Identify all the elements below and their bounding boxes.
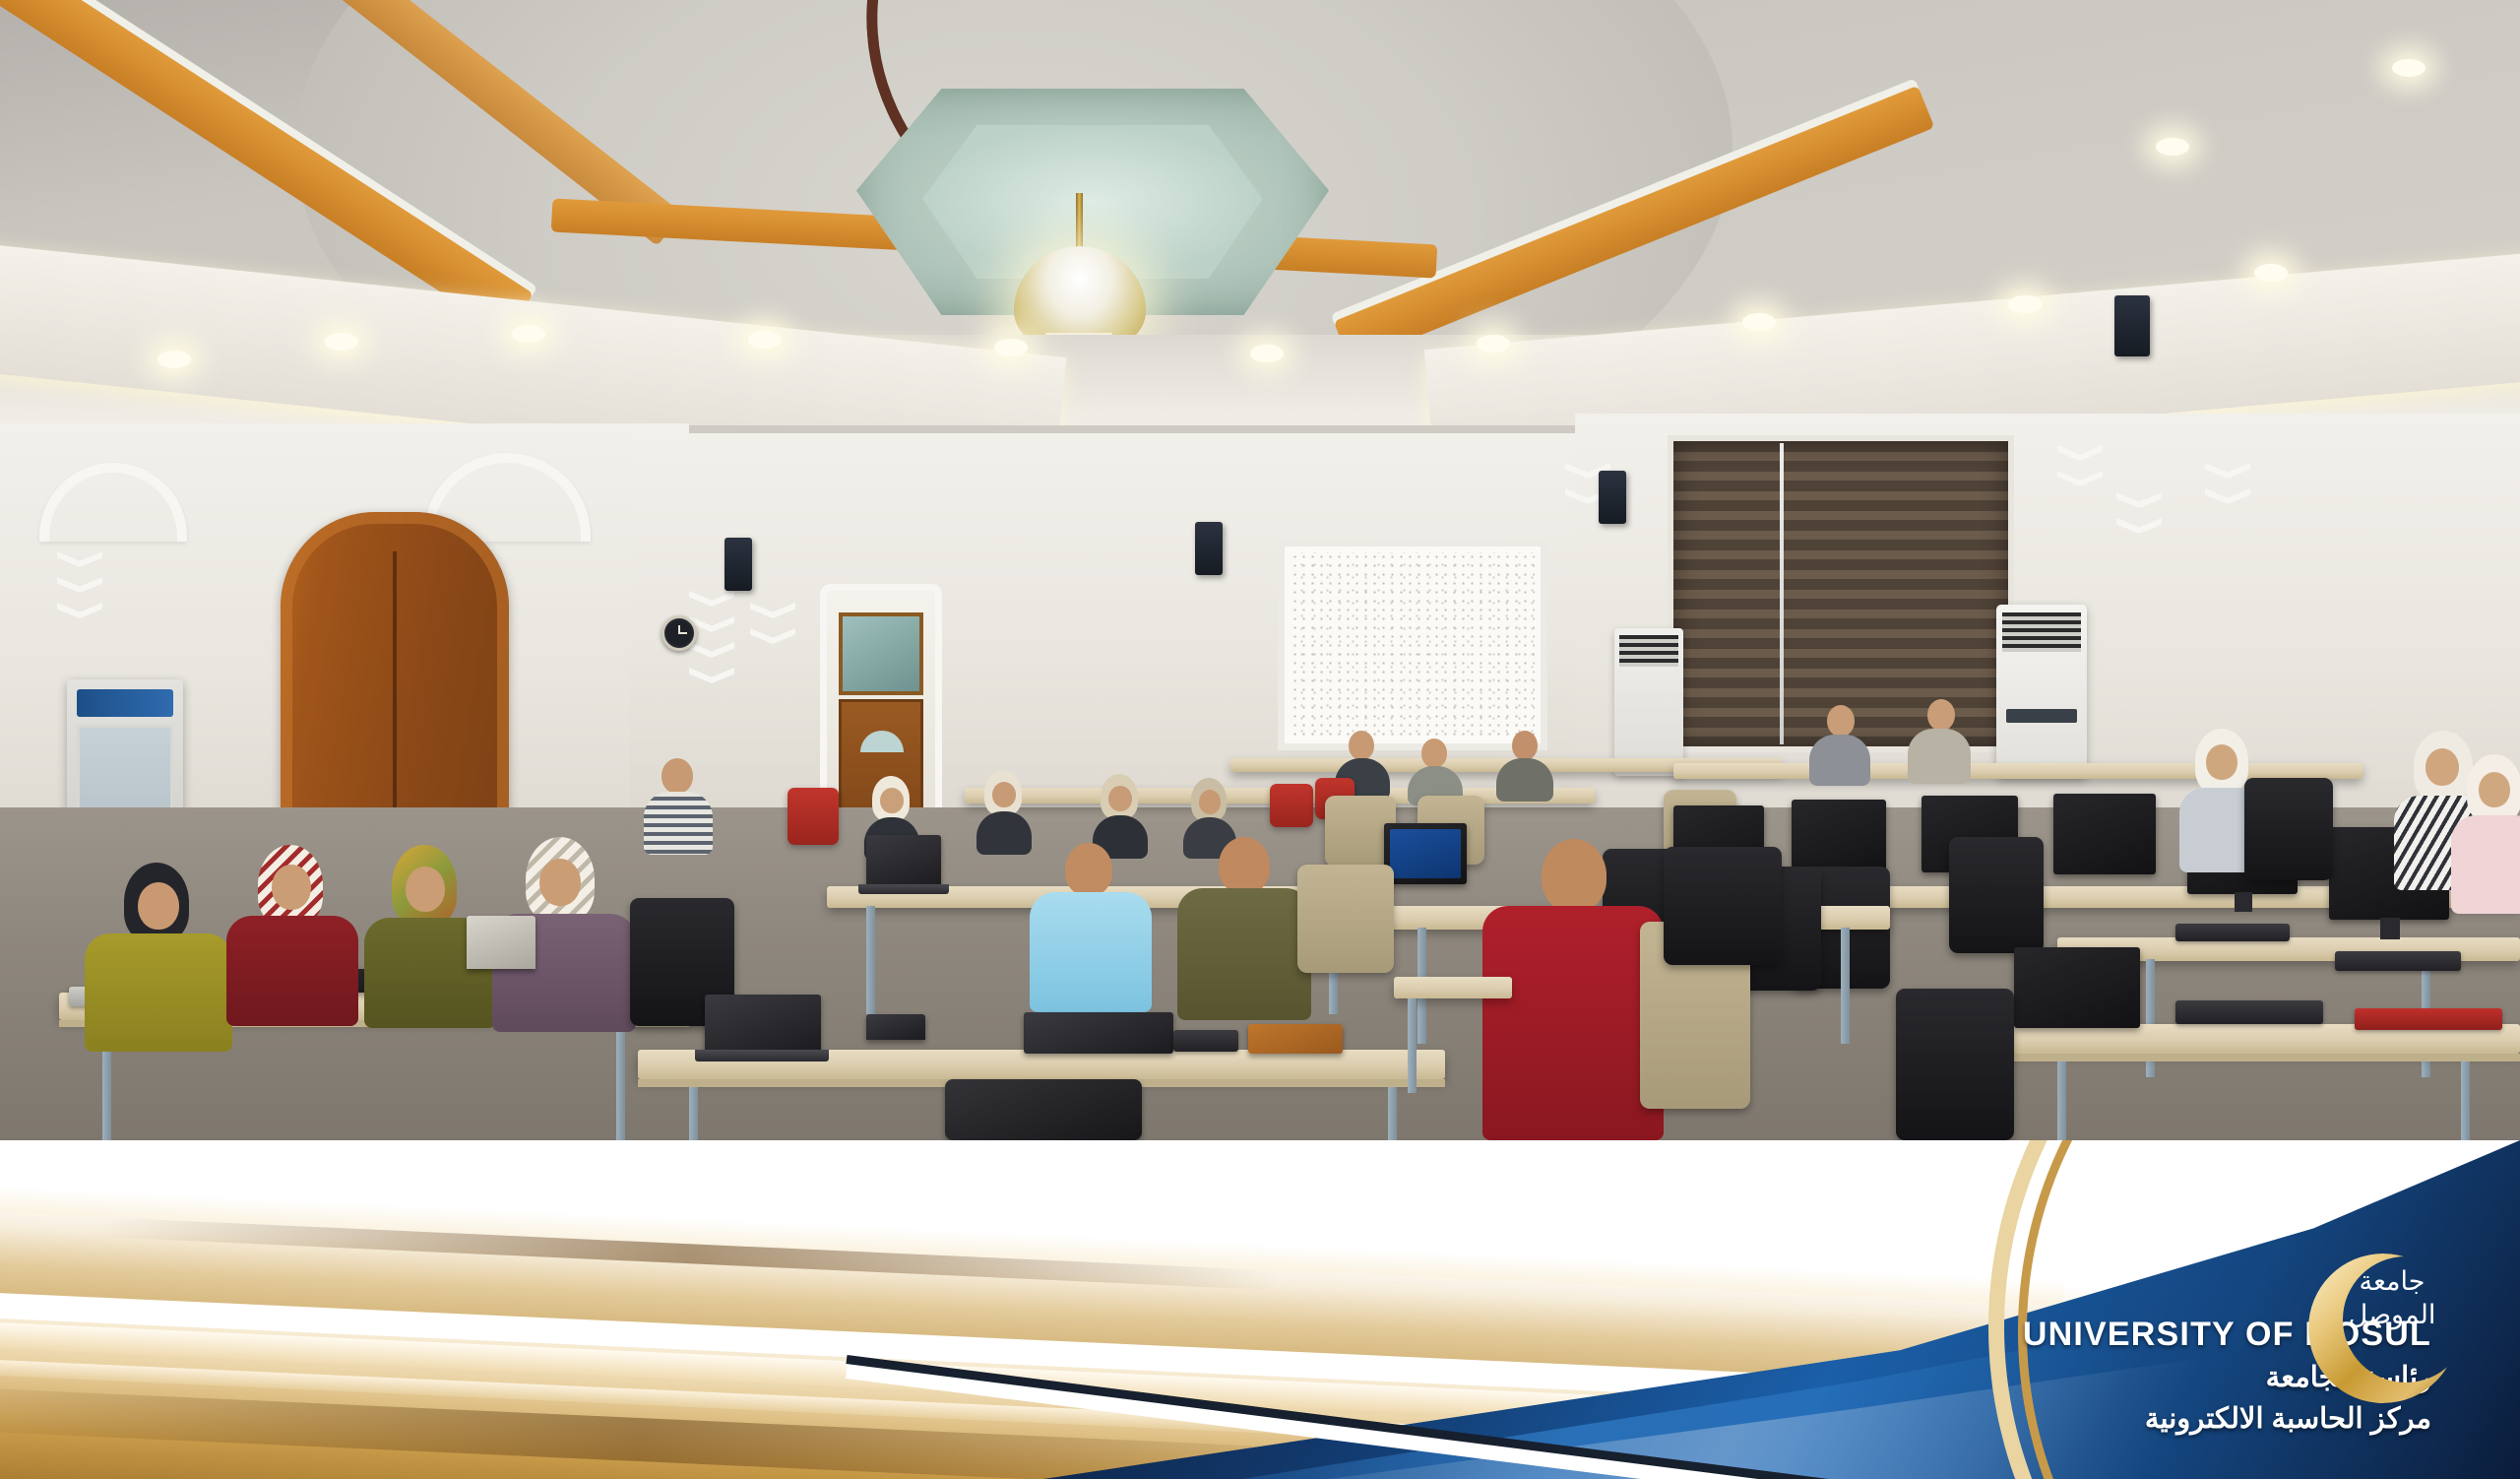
office-chair[interactable] — [2244, 778, 2333, 880]
desk — [1394, 977, 1512, 998]
desk-leg — [1841, 928, 1850, 1044]
laptop-closed[interactable] — [1024, 1012, 1173, 1054]
monitor — [2014, 947, 2140, 1028]
air-conditioner-grill — [1619, 635, 1678, 667]
handbag — [467, 916, 535, 969]
downlight — [157, 351, 191, 368]
notebook — [1248, 1024, 1343, 1054]
downlight — [1477, 335, 1510, 353]
acoustic-wall-panel — [1285, 547, 1541, 743]
wall-speaker — [724, 538, 752, 591]
desk — [1673, 763, 2362, 779]
downlight — [994, 339, 1028, 356]
training-hall-photo — [0, 0, 2520, 1140]
downlight — [1742, 313, 1776, 331]
office-chair[interactable] — [1949, 837, 2044, 953]
downlight — [2392, 59, 2425, 77]
wall-speaker — [1195, 522, 1223, 575]
laptop[interactable] — [705, 995, 821, 1052]
wall-speaker — [1599, 471, 1626, 524]
logo-arabic-bottom: الموصل — [2349, 1300, 2436, 1330]
laptop-base[interactable] — [858, 884, 949, 894]
monitor-stand — [2380, 918, 2400, 939]
keyboard[interactable] — [2335, 951, 2461, 971]
air-conditioner-grill — [2002, 612, 2081, 652]
downlight — [512, 325, 545, 343]
university-of-mosul-crescent-logo: جامعة الموصل — [2290, 1233, 2477, 1420]
desk-leg — [1408, 998, 1417, 1093]
downlight — [2008, 295, 2042, 313]
mobile-phone[interactable] — [1173, 1030, 1238, 1052]
window-blinds[interactable] — [1673, 441, 2008, 746]
stacking-chair[interactable] — [787, 788, 839, 845]
door-center-seam — [393, 551, 397, 832]
door-glass-pane — [839, 612, 923, 695]
downlight — [2254, 264, 2288, 282]
refrigerator-header — [77, 689, 173, 717]
keyboard[interactable] — [2175, 1000, 2323, 1024]
monitor-screen — [1390, 829, 1461, 878]
office-chair[interactable] — [1297, 865, 1394, 973]
desk-leg — [2461, 1061, 2470, 1140]
monitor — [1792, 800, 1886, 874]
university-footer-banner: UNIVERSITY OF MOSUL رئاسة الجامعة مركز ا… — [0, 1140, 2520, 1479]
blinds-cord[interactable] — [1780, 443, 1784, 744]
desk-leg — [866, 906, 875, 1014]
downlight — [748, 331, 782, 349]
wall-speaker — [2114, 295, 2150, 356]
laptop-base[interactable] — [695, 1050, 829, 1061]
desk-leg — [616, 1027, 625, 1140]
desk-leg — [2057, 1061, 2066, 1140]
office-chair[interactable] — [1896, 989, 2014, 1140]
laptop[interactable] — [866, 835, 941, 886]
wall-clock — [661, 615, 697, 651]
desk-leg — [1388, 1087, 1397, 1140]
downlight — [1250, 345, 1284, 362]
office-chair[interactable] — [1664, 847, 1782, 965]
downlight — [325, 333, 358, 351]
stacking-chair[interactable] — [1270, 784, 1313, 827]
downlight — [2156, 138, 2189, 156]
desk-edge — [1988, 1054, 2520, 1061]
air-conditioner-display — [2006, 709, 2077, 723]
logo-arabic-top: جامعة — [2360, 1266, 2425, 1297]
red-folder — [2355, 1008, 2502, 1030]
mouse[interactable] — [866, 1014, 925, 1040]
keyboard[interactable] — [2175, 924, 2290, 941]
monitor-stand — [2235, 892, 2252, 912]
monitor — [2053, 794, 2156, 874]
desk-leg — [689, 1087, 698, 1140]
screenshot-root: UNIVERSITY OF MOSUL رئاسة الجامعة مركز ا… — [0, 0, 2520, 1479]
laptop-bag — [945, 1079, 1142, 1140]
